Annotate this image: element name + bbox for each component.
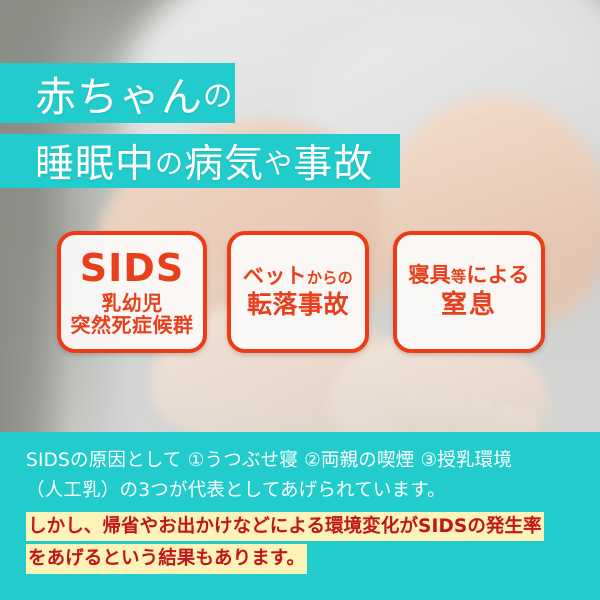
risk-card-bed-fall: ベットからの 転落事故 (227, 231, 369, 353)
risk-card-group: SIDS 乳幼児 突然死症候群 ベットからの 転落事故 寝具等による 窒息 (0, 231, 600, 356)
highlighted-note: しかし、帰省やお出かけなどによる環境変化がSIDSの発生率 をあげるという結果も… (26, 512, 574, 574)
risk-card-suffocation-word-bedding: 寝具 (408, 263, 451, 287)
title-line2-part-b: の (155, 141, 184, 182)
description-line-2: （人工乳）の3つが代表としてあげられています。 (26, 476, 574, 506)
risk-card-bed-fall-line-1: ベットからの (243, 265, 353, 289)
risk-card-sids: SIDS 乳幼児 突然死症候群 (57, 231, 207, 353)
infographic-poster: 赤ちゃんの 睡眠中の病気や事故 SIDS 乳幼児 突然死症候群 ベットからの 転… (0, 0, 600, 600)
highlighted-note-row-1: しかし、帰省やお出かけなどによる環境変化がSIDSの発生率 (26, 512, 574, 541)
title-line1-main: 赤ちゃん (35, 63, 203, 123)
risk-card-suffocation-line-1: 寝具等による (408, 264, 529, 288)
description-panel: SIDSの原因として ①うつぶせ寝 ②両親の喫煙 ③授乳環境 （人工乳）の3つが… (0, 432, 600, 600)
risk-card-sids-title: SIDS (80, 247, 184, 290)
risk-card-bed-fall-line-2: 転落事故 (247, 291, 349, 319)
risk-card-sids-sub-1: 乳幼児 (101, 292, 163, 314)
risk-card-bed-fall-word-bed: ベット (243, 264, 307, 288)
title-line2-part-e: 事故 (293, 133, 373, 189)
title-band-line-1: 赤ちゃんの (0, 63, 235, 123)
title-line1-suffix: の (203, 72, 234, 115)
risk-card-sids-sub-2: 突然死症候群 (71, 314, 194, 336)
risk-card-suffocation-word-by: による (466, 263, 529, 287)
description-line-1: SIDSの原因として ①うつぶせ寝 ②両親の喫煙 ③授乳環境 (26, 446, 574, 476)
highlighted-note-line-2: をあげるという結果もあります。 (26, 544, 307, 573)
highlighted-note-row-2: をあげるという結果もあります。 (26, 544, 574, 573)
highlighted-note-line-1: しかし、帰省やお出かけなどによる環境変化がSIDSの発生率 (26, 512, 544, 541)
risk-card-suffocation-line-2: 窒息 (441, 291, 497, 320)
title-band-line-2: 睡眠中の病気や事故 (0, 134, 400, 188)
title-line2-part-c: 病気 (184, 133, 264, 189)
risk-card-suffocation: 寝具等による 窒息 (393, 231, 545, 353)
title-line2-part-a: 睡眠中 (35, 133, 155, 189)
risk-card-suffocation-word-etc: 等 (451, 268, 466, 286)
title-line2-part-d: や (264, 141, 293, 182)
risk-card-bed-fall-word-from: からの (307, 269, 353, 287)
